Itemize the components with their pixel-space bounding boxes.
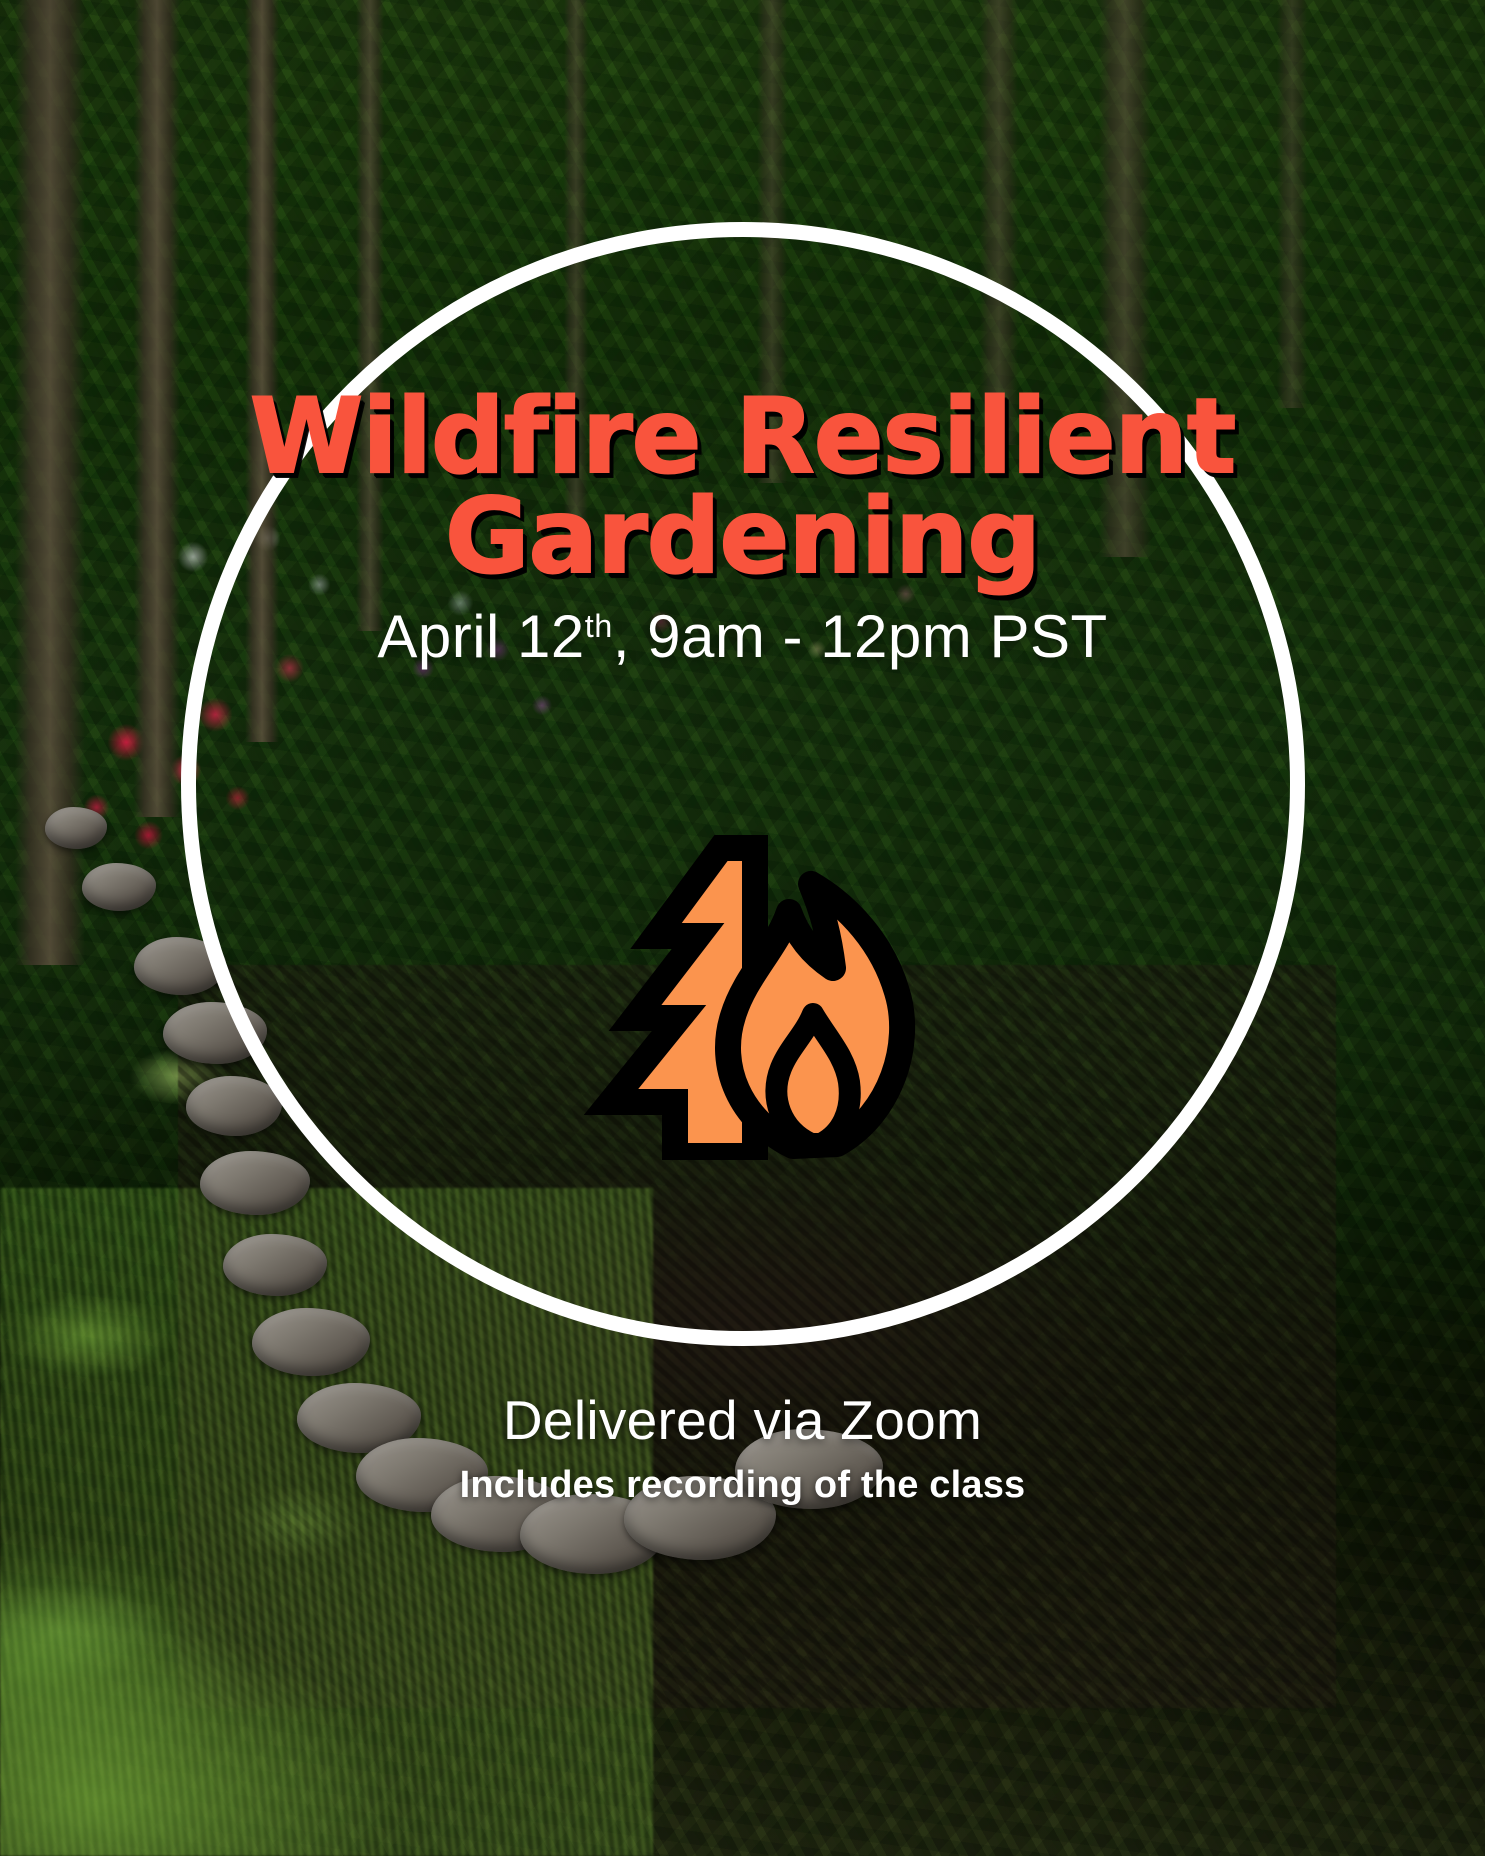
event-date: April 12 (377, 603, 584, 670)
event-datetime: April 12th, 9am - 12pm PST (377, 602, 1107, 671)
footer-block: Delivered via Zoom Includes recording of… (0, 1388, 1485, 1507)
date-ordinal-suffix: th (585, 608, 613, 644)
tree-flame-emblem (493, 700, 993, 1160)
headline-block: Wildfire Resilient Gardening April 12th,… (0, 0, 1485, 671)
page-title: Wildfire Resilient Gardening (250, 388, 1235, 588)
delivery-method: Delivered via Zoom (503, 1388, 982, 1452)
event-time: , 9am - 12pm PST (613, 603, 1108, 670)
poster-canvas: Wildfire Resilient Gardening April 12th,… (0, 0, 1485, 1856)
title-line-2: Gardening (250, 488, 1235, 588)
recording-note: Includes recording of the class (460, 1464, 1026, 1507)
